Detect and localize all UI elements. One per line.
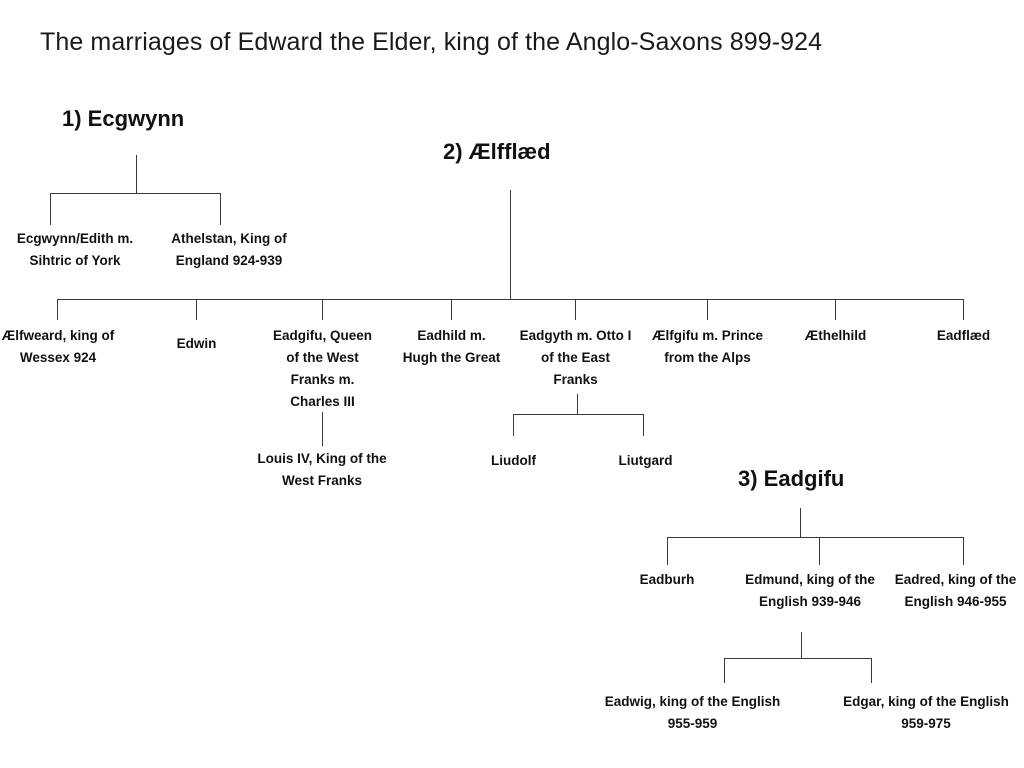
- edmund-sibling-bar: [724, 658, 872, 659]
- node-eadhild: Eadhild m. Hugh the Great: [400, 325, 503, 369]
- node-edmund: Edmund, king of the English 939-946: [742, 569, 878, 613]
- marriage-2-sibling-bar: [57, 299, 964, 300]
- node-athelstan: Athelstan, King of England 924-939: [150, 228, 308, 272]
- family-tree-diagram: The marriages of Edward the Elder, king …: [0, 0, 1024, 768]
- marriage-2-drop-aelfgifu: [707, 299, 708, 320]
- node-louis-iv: Louis IV, King of the West Franks: [242, 448, 402, 492]
- marriage-2-drop-eadgifu-queen: [322, 299, 323, 320]
- eadgifu-queen-to-louis-iv-connector: [322, 412, 323, 446]
- marriage-2-heading: 2) Ælfflæd: [443, 139, 551, 165]
- marriage-1-sibling-bar: [50, 193, 221, 194]
- marriage-3-heading: 3) Eadgifu: [738, 466, 844, 492]
- marriage-2-drop-aelfweard: [57, 299, 58, 320]
- node-eadgifu-queen: Eadgifu, Queen of the West Franks m. Cha…: [266, 325, 379, 412]
- marriage-3-drop-edmund: [819, 537, 820, 565]
- marriage-3-drop-eadburh: [667, 537, 668, 565]
- node-aethelhild: Æthelhild: [779, 325, 892, 347]
- node-eadburh: Eadburh: [612, 569, 722, 591]
- marriage-1-heading: 1) Ecgwynn: [62, 106, 184, 132]
- marriage-2-stem: [510, 190, 511, 300]
- marriage-3-drop-eadred: [963, 537, 964, 565]
- node-eadgyth: Eadgyth m. Otto I of the East Franks: [518, 325, 633, 391]
- node-edwin: Edwin: [144, 333, 249, 355]
- node-aelfgifu: Ælfgifu m. Prince from the Alps: [652, 325, 763, 369]
- node-eadred: Eadred, king of the English 946-955: [888, 569, 1023, 613]
- node-liudolf: Liudolf: [463, 450, 564, 472]
- marriage-3-sibling-bar: [667, 537, 964, 538]
- marriage-2-drop-edwin: [196, 299, 197, 320]
- marriage-1-drop-ecgwynn-edith: [50, 193, 51, 225]
- edmund-stem: [801, 632, 802, 659]
- node-aelfweard: Ælfweard, king of Wessex 924: [0, 325, 116, 369]
- marriage-2-drop-eadflaed: [963, 299, 964, 320]
- node-edgar: Edgar, king of the English 959-975: [838, 691, 1014, 735]
- eadgyth-stem: [577, 394, 578, 415]
- node-eadflaed: Eadflæd: [912, 325, 1015, 347]
- marriage-1-stem: [136, 155, 137, 194]
- eadgyth-drop-liudolf: [513, 414, 514, 436]
- eadgyth-sibling-bar: [513, 414, 644, 415]
- marriage-2-drop-aethelhild: [835, 299, 836, 320]
- node-liutgard: Liutgard: [595, 450, 696, 472]
- marriage-3-stem: [800, 508, 801, 538]
- node-ecgwynn-edith: Ecgwynn/Edith m. Sihtric of York: [0, 228, 150, 272]
- marriage-2-drop-eadhild: [451, 299, 452, 320]
- eadgyth-drop-liutgard: [643, 414, 644, 436]
- edmund-drop-edgar: [871, 658, 872, 683]
- page-title: The marriages of Edward the Elder, king …: [40, 28, 1000, 57]
- edmund-drop-eadwig: [724, 658, 725, 683]
- node-eadwig: Eadwig, king of the English 955-959: [601, 691, 784, 735]
- marriage-1-drop-athelstan: [220, 193, 221, 225]
- marriage-2-drop-eadgyth: [575, 299, 576, 320]
